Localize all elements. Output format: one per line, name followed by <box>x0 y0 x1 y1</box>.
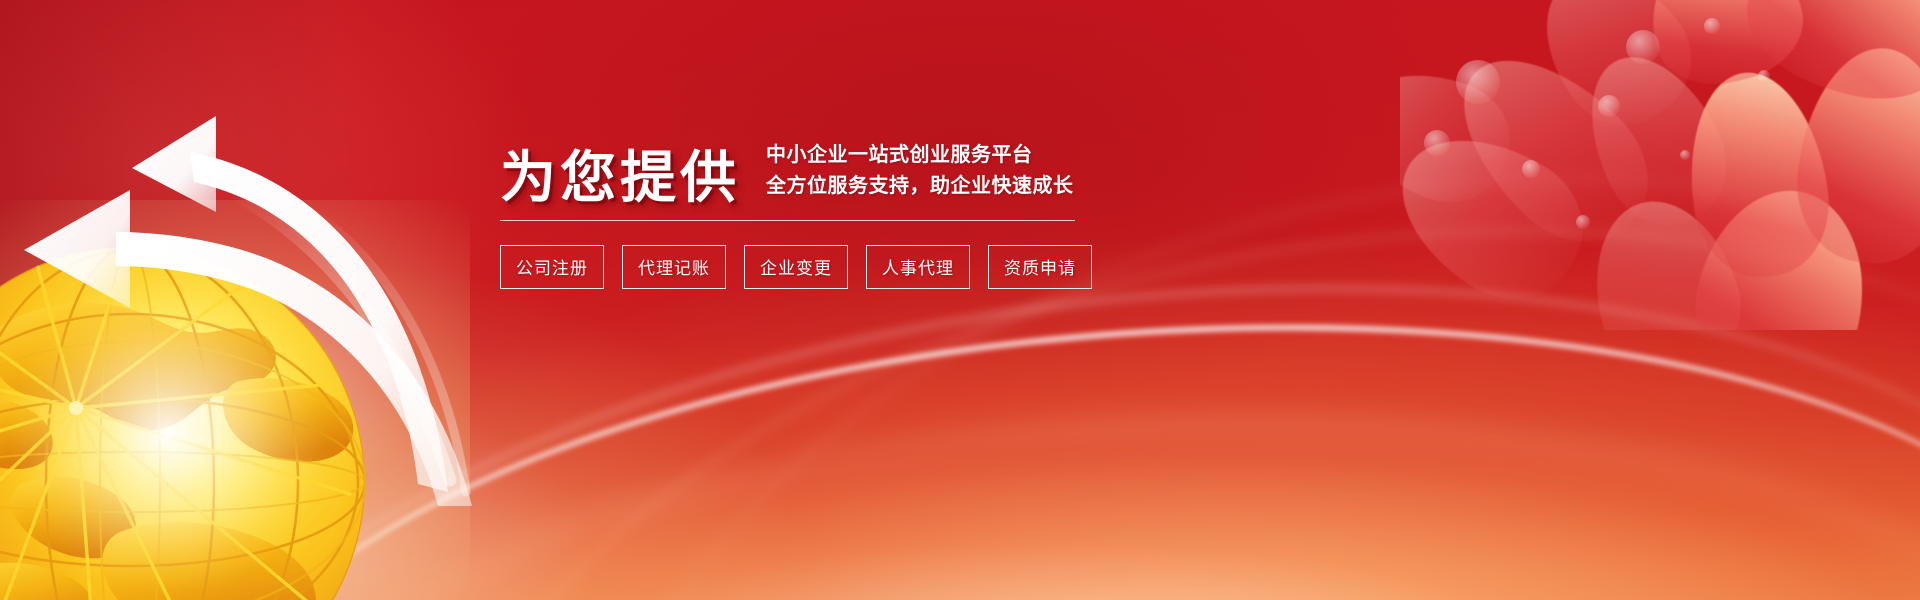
banner-content: 为您提供 中小企业一站式创业服务平台 全方位服务支持，助企业快速成长 公司注册 … <box>500 140 1100 289</box>
bokeh-dot <box>1424 130 1450 156</box>
arrow-tail-streak <box>230 192 466 492</box>
globe-backlight <box>0 200 470 600</box>
flower-petal <box>1789 41 1920 271</box>
bokeh-dot <box>1680 150 1690 160</box>
subtitle-block: 中小企业一站式创业服务平台 全方位服务支持，助企业快速成长 <box>766 140 1074 206</box>
flower-petal <box>1682 175 1883 330</box>
service-tag-agency-bookkeeping[interactable]: 代理记账 <box>622 245 726 289</box>
golden-globe-network-icon <box>0 232 420 600</box>
divider <box>500 220 1075 221</box>
flower-petals-icon <box>1400 0 1920 330</box>
background-vignette-left <box>0 0 340 600</box>
bokeh-dot <box>1758 70 1770 82</box>
light-swoosh-icon <box>290 390 1920 600</box>
flower-petal <box>1730 0 1920 121</box>
subtitle-line-1: 中小企业一站式创业服务平台 <box>766 140 1074 171</box>
bokeh-dot <box>1626 30 1660 64</box>
page-title: 为您提供 <box>500 149 740 206</box>
bokeh-dot <box>1598 95 1620 117</box>
bottom-light-haze <box>0 300 1920 600</box>
flower-petal <box>1676 64 1838 286</box>
flower-petal <box>1563 35 1748 245</box>
service-tag-list: 公司注册 代理记账 企业变更 人事代理 资质申请 <box>500 245 1100 289</box>
curved-arrow-upper-left-icon <box>132 116 448 492</box>
flower-petal <box>1635 0 1814 98</box>
curved-arrows-group <box>0 60 500 520</box>
service-tag-hr-agency[interactable]: 人事代理 <box>866 245 970 289</box>
flower-petal <box>1515 0 1716 149</box>
service-tag-company-registration[interactable]: 公司注册 <box>500 245 604 289</box>
bokeh-dot <box>1522 160 1540 178</box>
background-glow-top-left <box>0 0 560 470</box>
bokeh-dot <box>1576 215 1590 229</box>
flower-petal <box>1428 24 1676 270</box>
flower-petal <box>1400 51 1526 218</box>
bokeh-dot <box>1704 18 1720 34</box>
subtitle-line-2: 全方位服务支持，助企业快速成长 <box>766 171 1074 202</box>
bokeh-dot <box>1456 60 1500 104</box>
curved-arrow-left-icon <box>24 190 472 506</box>
promo-banner: 为您提供 中小企业一站式创业服务平台 全方位服务支持，助企业快速成长 公司注册 … <box>0 0 1920 600</box>
light-swoosh-icon <box>176 265 1920 600</box>
flower-petal <box>1400 105 1608 324</box>
flower-petal <box>1574 184 1757 330</box>
headline-row: 为您提供 中小企业一站式创业服务平台 全方位服务支持，助企业快速成长 <box>500 140 1100 206</box>
service-tag-qualification-apply[interactable]: 资质申请 <box>988 245 1092 289</box>
service-tag-enterprise-change[interactable]: 企业变更 <box>744 245 848 289</box>
light-swoosh-icon <box>440 0 1920 600</box>
